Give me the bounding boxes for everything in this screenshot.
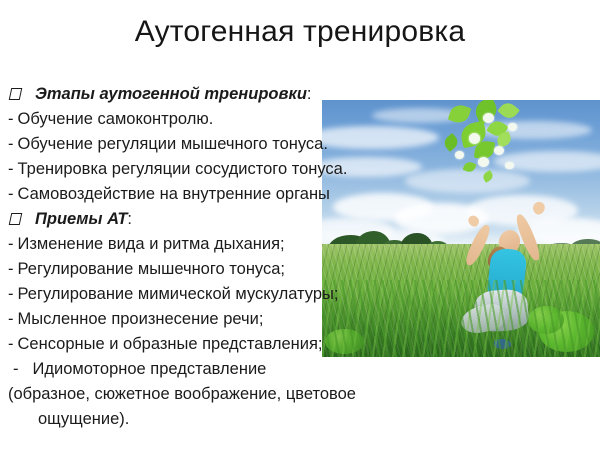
slide: Аутогенная тренировка <box>0 0 600 450</box>
list-item: -Сенсорные и образные представления; <box>0 332 600 357</box>
section-heading-text: Этапы аутогенной тренировки <box>35 85 307 103</box>
box-bullet-icon <box>9 213 23 225</box>
item-dash: - <box>8 260 14 278</box>
item-text: Обучение самоконтролю. <box>18 110 214 128</box>
closing-text-1: (образное, сюжетное воображение, цветово… <box>8 385 356 403</box>
list-item: -Обучение самоконтролю. <box>0 107 600 132</box>
item-dash: - <box>8 160 14 178</box>
list-item: -Идиомоторное представление <box>0 357 600 382</box>
closing-line-2: ощущение). <box>0 407 600 432</box>
section-heading-text: Приемы АТ <box>35 210 127 228</box>
page-title: Аутогенная тренировка <box>0 14 600 50</box>
item-text: Тренировка регуляции сосудистого тонуса. <box>18 160 348 178</box>
item-text: Обучение регуляции мышечного тонуса. <box>18 135 328 153</box>
item-dash: - <box>8 285 14 303</box>
list-item: -Обучение регуляции мышечного тонуса. <box>0 132 600 157</box>
list-item: -Мысленное произнесение речи; <box>0 307 600 332</box>
item-dash: - <box>8 110 14 128</box>
item-dash: - <box>8 235 14 253</box>
item-text: Изменение вида и ритма дыхания; <box>18 235 285 253</box>
item-text: Регулирование мимической мускулатуры; <box>18 285 339 303</box>
list-item: -Самовоздействие на внутренние органы <box>0 182 600 207</box>
section-heading: Этапы аутогенной тренировки: <box>0 82 600 107</box>
item-text: Мысленное произнесение речи; <box>18 310 264 328</box>
box-bullet-icon <box>9 88 23 100</box>
item-text: Сенсорные и образные представления; <box>18 335 323 353</box>
section-heading-colon: : <box>307 85 312 103</box>
list-item: -Тренировка регуляции сосудистого тонуса… <box>0 157 600 182</box>
item-dash: - <box>8 185 14 203</box>
list-item: -Регулирование мимической мускулатуры; <box>0 282 600 307</box>
item-text: Самовоздействие на внутренние органы <box>18 185 330 203</box>
item-dash: - <box>8 310 14 328</box>
item-text: Идиомоторное представление <box>33 360 267 378</box>
item-dash: - <box>8 335 14 353</box>
closing-line-1: (образное, сюжетное воображение, цветово… <box>0 382 600 407</box>
list-item: -Изменение вида и ритма дыхания; <box>0 232 600 257</box>
item-dash: - <box>8 135 14 153</box>
section-heading: Приемы АТ: <box>0 207 600 232</box>
section-heading-colon: : <box>127 210 132 228</box>
list-item: -Регулирование мышечного тонуса; <box>0 257 600 282</box>
item-dash: - <box>13 360 19 378</box>
body-text: Этапы аутогенной тренировки: -Обучение с… <box>0 82 600 432</box>
closing-text-2: ощущение). <box>38 410 129 428</box>
item-text: Регулирование мышечного тонуса; <box>18 260 286 278</box>
